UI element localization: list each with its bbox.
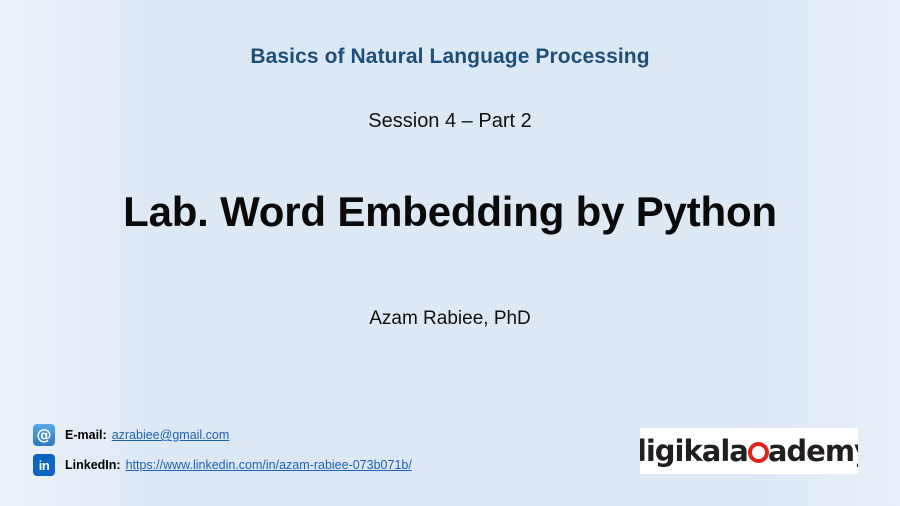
linkedin-row: in LinkedIn: https://www.linkedin.com/in… — [33, 452, 412, 478]
session-subtitle: Session 4 – Part 2 — [0, 110, 900, 133]
email-label: E-mail: — [65, 428, 107, 442]
course-title: Basics of Natural Language Processing — [0, 45, 900, 69]
logo-wordmark: digikalaademy — [640, 437, 858, 466]
linkedin-icon: in — [33, 454, 55, 476]
logo-text-before: digikala — [640, 434, 748, 468]
logo-text-after: ademy — [768, 434, 858, 468]
presentation-slide: Basics of Natural Language Processing Se… — [0, 0, 900, 506]
slide-main-title: Lab. Word Embedding by Python — [0, 188, 900, 236]
email-row: @ E-mail: azrabiee@gmail.com — [33, 422, 412, 448]
email-address-link[interactable]: azrabiee@gmail.com — [112, 428, 230, 442]
linkedin-profile-link[interactable]: https://www.linkedin.com/in/azam-rabiee-… — [126, 458, 412, 472]
contact-block: @ E-mail: azrabiee@gmail.com in LinkedIn… — [33, 422, 412, 482]
at-sign-icon: @ — [33, 424, 55, 446]
linkedin-label: LinkedIn: — [65, 458, 121, 472]
author-name: Azam Rabiee, PhD — [0, 308, 900, 330]
digikala-academy-logo: digikalaademy — [640, 428, 858, 474]
logo-ring-icon — [748, 442, 769, 463]
